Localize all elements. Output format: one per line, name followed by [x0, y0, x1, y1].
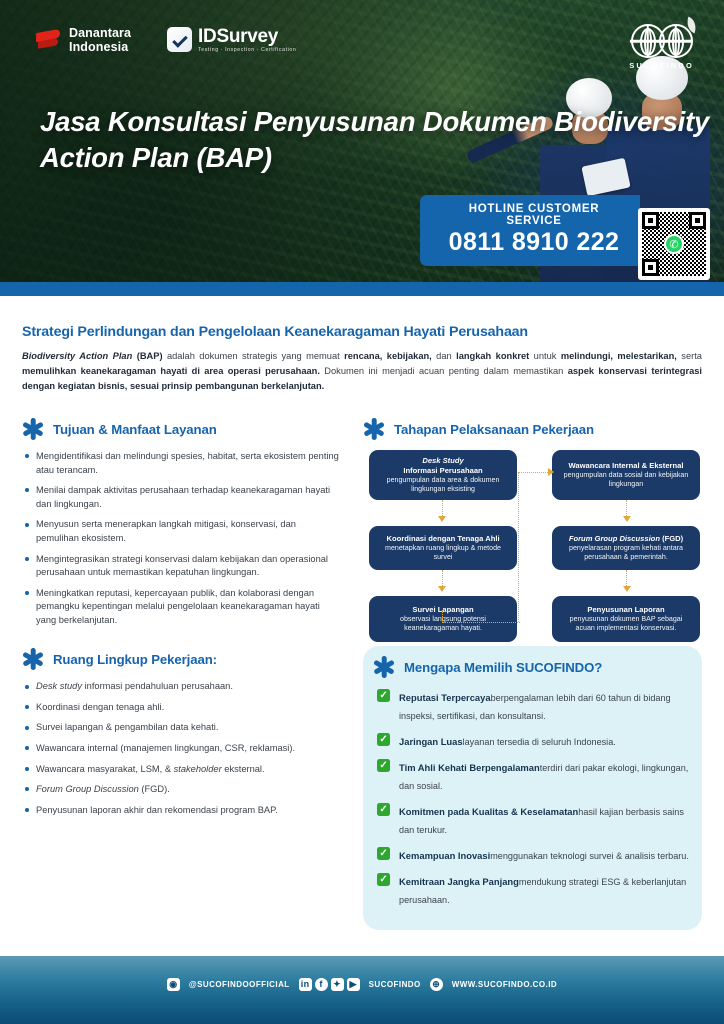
tujuan-list: Mengidentifikasi dan melindungi spesies,… [22, 450, 339, 627]
tahapan-heading-row: Tahapan Pelaksanaan Pekerjaan [363, 418, 702, 440]
idsurvey-check-icon [167, 27, 192, 52]
ruang-lingkup-title: Ruang Lingkup Pekerjaan: [53, 652, 217, 667]
hotline-number: 0811 8910 222 [446, 228, 622, 257]
list-item: Mengidentifikasi dan melindungi spesies,… [22, 450, 339, 477]
tujuan-title: Tujuan & Manfaat Layanan [53, 422, 217, 437]
list-item: Desk study informasi pendahuluan perusah… [22, 680, 339, 694]
website-url[interactable]: WWW.SUCOFINDO.CO.ID [452, 980, 557, 989]
footer-bar: ◉ @SUCOFINDOOFFICIAL in f ✦ ▶ SUCOFINDO … [0, 956, 724, 1024]
sucofindo-globe-icon [631, 24, 693, 58]
flow-step-desc: pengumpulan data sosial dan kebijakan li… [560, 471, 692, 490]
row-two: Ruang Lingkup Pekerjaan: Desk study info… [22, 648, 702, 930]
flow-loop-up [442, 610, 443, 623]
idsurvey-logo: IDSurvey Testing · Inspection · Certific… [167, 27, 296, 53]
hotline-label: HOTLINE CUSTOMER SERVICE [446, 203, 622, 227]
social-account-name: SUCOFINDO [369, 980, 421, 989]
mengapa-section: Mengapa Memilih SUCOFINDO? ✓Reputasi Ter… [363, 648, 702, 930]
intro-heading: Strategi Perlindungan dan Pengelolaan Ke… [22, 324, 702, 340]
twitter-icon[interactable]: ✦ [331, 978, 344, 991]
asterisk-icon [363, 418, 385, 440]
flow-step-box: Koordinasi dengan Tenaga Ahlimenetapkan … [369, 526, 517, 570]
flow-arrow-top-right [548, 468, 554, 476]
flow-step-title: Survei Lapangan [377, 605, 509, 615]
danantara-line-1: Danantara [69, 26, 131, 40]
asterisk-icon [22, 648, 44, 670]
content-area: Strategi Perlindungan dan Pengelolaan Ke… [0, 296, 724, 956]
benefit-title: Reputasi Terpercaya [399, 692, 491, 703]
hotline-banner: HOTLINE CUSTOMER SERVICE 0811 8910 222 [420, 195, 640, 266]
flow-arrow-left-1 [438, 516, 446, 522]
benefit-desc: menggunakan teknologi survei & analisis … [490, 851, 689, 861]
list-item: Penyusunan laporan akhir dan rekomendasi… [22, 804, 339, 818]
flow-connector-top [518, 472, 550, 473]
logo-row: Danantara Indonesia IDSurvey Testing · I… [36, 26, 296, 54]
tahapan-title: Tahapan Pelaksanaan Pekerjaan [394, 422, 594, 437]
idsurvey-wordmark: IDSurvey [198, 26, 278, 47]
flow-step-box: Desk StudyInformasi Perusahaanpengumpula… [369, 450, 517, 500]
flow-step-box: Survei Lapanganobservasi langsung potens… [369, 596, 517, 642]
sucofindo-wordmark: SUCOFINDO [629, 61, 694, 70]
sucofindo-logo: SUCOFINDO [629, 24, 694, 70]
globe-icon: ⊕ [430, 978, 443, 991]
flow-step-title: Forum Group Discussion (FGD) [560, 534, 692, 544]
flow-loop-vertical [518, 472, 519, 622]
asterisk-icon [22, 418, 44, 440]
mengapa-card: Mengapa Memilih SUCOFINDO? ✓Reputasi Ter… [363, 646, 702, 930]
facebook-icon[interactable]: f [315, 978, 328, 991]
danantara-flag-icon [36, 27, 62, 53]
list-item: Meningkatkan reputasi, kepercayaan publi… [22, 587, 339, 628]
danantara-logo: Danantara Indonesia [36, 26, 131, 54]
benefit-item: ✓Reputasi Terpercayaberpengalaman lebih … [375, 688, 690, 724]
tujuan-heading-row: Tujuan & Manfaat Layanan [22, 418, 339, 440]
flow-step-box: Forum Group Discussion (FGD)penyelarasan… [552, 526, 700, 570]
flow-step-desc: penyelarasan program kehati antara perus… [560, 544, 692, 563]
check-icon: ✓ [377, 759, 390, 772]
flow-arrow-left-2 [438, 586, 446, 592]
danantara-line-2: Indonesia [69, 40, 131, 54]
flow-step-desc: observasi langsung potensi keanekaragama… [377, 615, 509, 634]
ruang-lingkup-list: Desk study informasi pendahuluan perusah… [22, 680, 339, 817]
flow-arrow-right-2 [623, 586, 631, 592]
hero-banner: Danantara Indonesia IDSurvey Testing · I… [0, 0, 724, 296]
benefit-title: Komitmen pada Kualitas & Keselamatan [399, 806, 578, 817]
flow-column-right: Wawancara Internal & Eksternalpengumpula… [552, 450, 700, 668]
list-item: Menilai dampak aktivitas perusahaan terh… [22, 484, 339, 511]
flow-step-title: Desk StudyInformasi Perusahaan [377, 456, 509, 476]
social-icon-group: in f ✦ ▶ [299, 978, 360, 991]
flow-step-box: Wawancara Internal & Eksternalpengumpula… [552, 450, 700, 500]
danantara-logo-text: Danantara Indonesia [69, 26, 131, 54]
list-item: Survei lapangan & pengambilan data kehat… [22, 721, 339, 735]
benefit-item: ✓Kemitraan Jangka Panjangmendukung strat… [375, 872, 690, 908]
list-item: Koordinasi dengan tenaga ahli. [22, 701, 339, 715]
check-icon: ✓ [377, 803, 390, 816]
linkedin-icon[interactable]: in [299, 978, 312, 991]
check-icon: ✓ [377, 847, 390, 860]
benefit-title: Tim Ahli Kehati Berpengalaman [399, 762, 540, 773]
benefit-item: ✓Tim Ahli Kehati Berpengalamanterdiri da… [375, 758, 690, 794]
list-item: Menyusun serta menerapkan langkah mitiga… [22, 518, 339, 545]
check-icon: ✓ [377, 733, 390, 746]
flow-step-desc: menetapkan ruang lingkup & metode survei [377, 544, 509, 563]
benefit-desc: layanan tersedia di seluruh Indonesia. [463, 737, 616, 747]
poster-page: Danantara Indonesia IDSurvey Testing · I… [0, 0, 724, 1024]
qr-code[interactable]: ✆ [638, 208, 710, 280]
benefit-item: ✓Jaringan Luaslayanan tersedia di seluru… [375, 732, 690, 750]
youtube-icon[interactable]: ▶ [347, 978, 360, 991]
list-item: Forum Group Discussion (FGD). [22, 783, 339, 797]
check-icon: ✓ [377, 689, 390, 702]
process-flowchart: Desk StudyInformasi Perusahaanpengumpula… [363, 450, 702, 630]
whatsapp-icon: ✆ [664, 234, 684, 254]
instagram-icon[interactable]: ◉ [167, 978, 180, 991]
benefit-title: Jaringan Luas [399, 736, 463, 747]
benefit-title: Kemampuan Inovasi [399, 850, 490, 861]
flow-step-box: Penyusunan Laporanpenyusunan dokumen BAP… [552, 596, 700, 642]
flow-step-desc: pengumpulan data area & dokumen lingkung… [377, 476, 509, 495]
asterisk-icon [373, 656, 395, 678]
flow-step-title: Wawancara Internal & Eksternal [560, 461, 692, 471]
row-one: Tujuan & Manfaat Layanan Mengidentifikas… [22, 418, 702, 634]
flow-step-title: Penyusunan Laporan [560, 605, 692, 615]
hero-blue-divider [0, 282, 724, 296]
flow-arrow-right-1 [623, 516, 631, 522]
list-item: Mengintegrasikan strategi konservasi dal… [22, 553, 339, 580]
check-icon: ✓ [377, 873, 390, 886]
mengapa-list: ✓Reputasi Terpercayaberpengalaman lebih … [375, 688, 690, 908]
flow-column-left: Desk StudyInformasi Perusahaanpengumpula… [369, 450, 517, 668]
idsurvey-logo-text: IDSurvey Testing · Inspection · Certific… [198, 27, 296, 53]
tujuan-section: Tujuan & Manfaat Layanan Mengidentifikas… [22, 418, 339, 634]
flow-loop-bottom [442, 622, 520, 623]
list-item: Wawancara masyarakat, LSM, & stakeholder… [22, 763, 339, 777]
ruang-lingkup-section: Ruang Lingkup Pekerjaan: Desk study info… [22, 648, 339, 930]
benefit-item: ✓Kemampuan Inovasimenggunakan teknologi … [375, 846, 690, 864]
list-item: Wawancara internal (manajemen lingkungan… [22, 742, 339, 756]
ruang-heading-row: Ruang Lingkup Pekerjaan: [22, 648, 339, 670]
flow-step-desc: penyusunan dokumen BAP sebagai acuan imp… [560, 615, 692, 634]
instagram-handle: @SUCOFINDOOFFICIAL [189, 980, 290, 989]
intro-paragraph: Biodiversity Action Plan (BAP) adalah do… [22, 349, 702, 394]
flow-step-title: Koordinasi dengan Tenaga Ahli [377, 534, 509, 544]
benefit-item: ✓Komitmen pada Kualitas & Keselamatanhas… [375, 802, 690, 838]
footer-social-row: ◉ @SUCOFINDOOFFICIAL in f ✦ ▶ SUCOFINDO … [167, 978, 557, 991]
page-title: Jasa Konsultasi Penyusunan Dokumen Biodi… [40, 104, 724, 177]
benefit-title: Kemitraan Jangka Panjang [399, 876, 519, 887]
idsurvey-tagline: Testing · Inspection · Certification [198, 48, 296, 53]
tahapan-section: Tahapan Pelaksanaan Pekerjaan Desk Study… [363, 418, 702, 634]
